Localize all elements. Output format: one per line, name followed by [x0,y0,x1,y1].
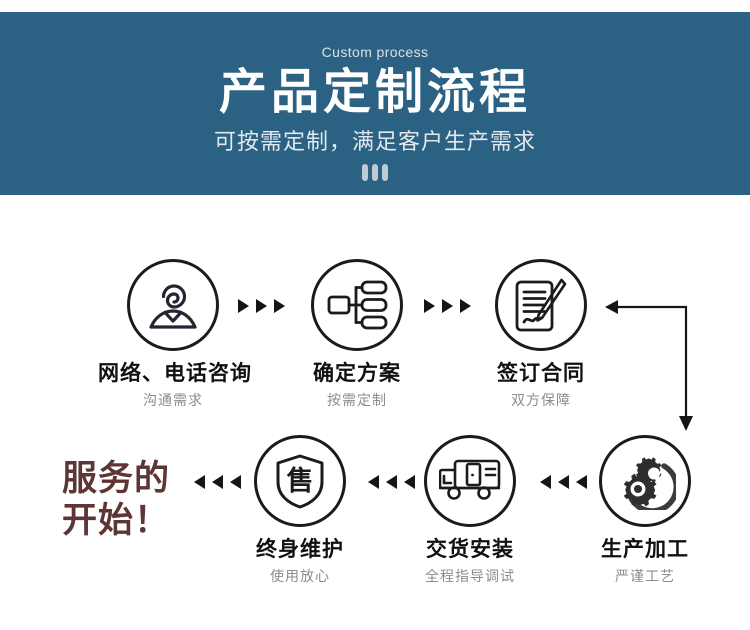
dot-bar-1 [362,164,368,181]
arrow-left-icon [558,475,569,489]
arrow-left-icon [212,475,223,489]
banner-subtitle: 可按需定制，满足客户生产需求 [0,127,750,157]
arrow-right-icon [238,299,249,313]
consultant-person-icon [127,259,219,351]
header-banner: Custom process 产品定制流程 可按需定制，满足客户生产需求 [0,12,750,195]
gears-production-icon [599,435,691,527]
service-start-line2: 开始！ [62,500,170,542]
step-subtitle: 严谨工艺 [570,566,720,586]
shield-character: 售 [287,465,314,496]
banner-dots-decoration [0,164,750,181]
step-title: 生产加工 [570,537,720,563]
step-plan[interactable]: 确定方案 按需定制 [282,259,432,410]
step-title: 交货安装 [395,537,545,563]
dot-bar-2 [372,164,378,181]
arrow-right-icon [442,299,453,313]
service-start-text: 服务的 开始！ [62,458,170,542]
step-title: 网络、电话咨询 [98,361,248,387]
process-infographic-page: Custom process 产品定制流程 可按需定制，满足客户生产需求 网络、… [0,0,750,630]
triple-right-arrow-1 [238,299,285,313]
arrow-down-icon [679,416,693,431]
step-contract[interactable]: 签订合同 双方保障 [466,259,616,410]
arrow-right-icon [605,300,618,314]
step-production[interactable]: 生产加工 严谨工艺 [570,435,720,586]
service-start-line1: 服务的 [62,458,170,500]
step-title: 签订合同 [466,361,616,387]
arrow-right-icon [424,299,435,313]
step-title: 终身维护 [225,537,375,563]
step-subtitle: 全程指导调试 [395,566,545,586]
triple-right-arrow-2 [424,299,471,313]
page-title: 产品定制流程 [0,64,750,122]
arrow-left-icon [540,475,551,489]
dot-bar-3 [382,164,388,181]
step-subtitle: 按需定制 [282,390,432,410]
arrow-right-icon [256,299,267,313]
step-title: 确定方案 [282,361,432,387]
arrow-left-icon [368,475,379,489]
step-consultation[interactable]: 网络、电话咨询 沟通需求 [98,259,248,410]
arrow-left-icon [194,475,205,489]
flowchart-plan-icon [311,259,403,351]
elbow-down-arrow-connector [600,288,740,448]
step-subtitle: 使用放心 [225,566,375,586]
step-subtitle: 双方保障 [466,390,616,410]
step-subtitle: 沟通需求 [98,390,248,410]
contract-signing-icon [495,259,587,351]
after-sales-shield-icon: 售 [254,435,346,527]
step-delivery-install[interactable]: 交货安装 全程指导调试 [395,435,545,586]
banner-eyebrow: Custom process [0,44,750,60]
delivery-truck-icon [424,435,516,527]
step-lifetime-maintenance[interactable]: 售 终身维护 使用放心 [225,435,375,586]
